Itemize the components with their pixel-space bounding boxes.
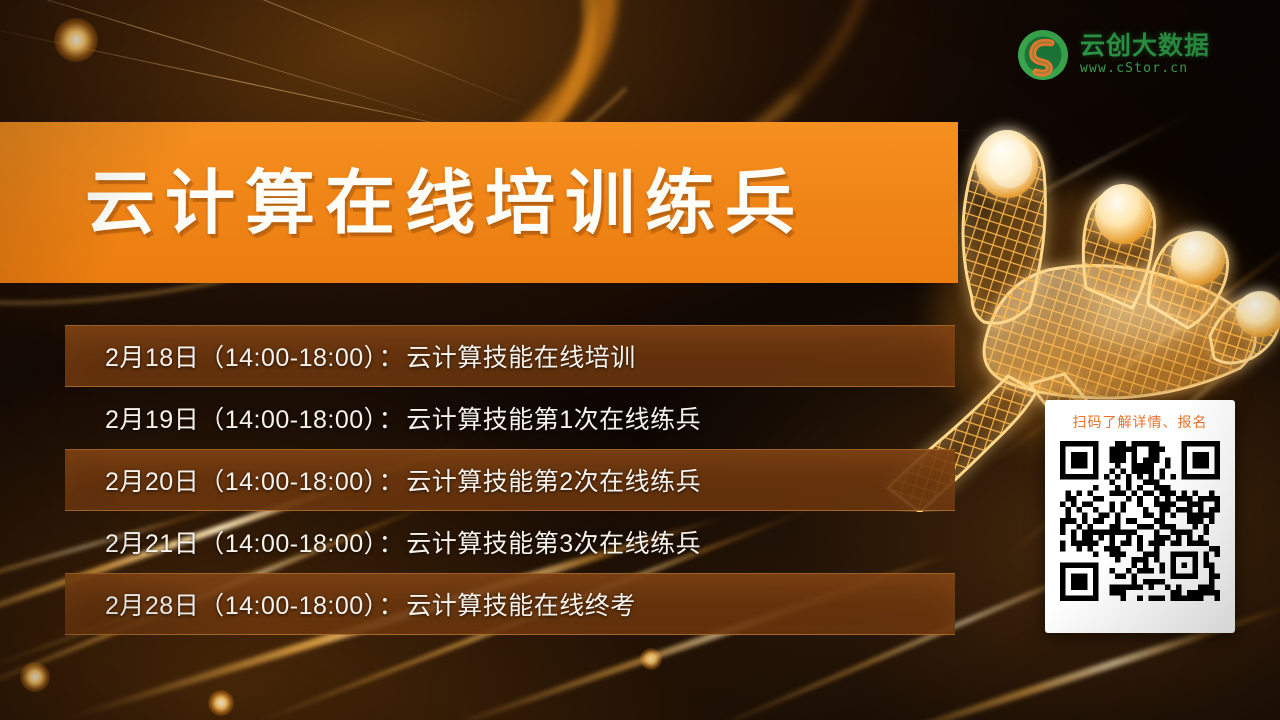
schedule-separator: ： (377, 406, 407, 434)
schedule-time: （14:00-18:00） (199, 468, 376, 496)
qr-code-image[interactable] (1060, 441, 1220, 601)
schedule-separator: ： (377, 530, 407, 558)
qr-card[interactable]: 扫码了解详情、报名 (1045, 400, 1235, 633)
schedule-time: （14:00-18:00） (199, 344, 376, 372)
schedule-row-text: 2月28日（14:00-18:00）：云计算技能在线终考 (105, 586, 636, 622)
page-title: 云计算在线培训练兵 (85, 168, 805, 238)
schedule-date: 2月28日 (105, 592, 199, 620)
schedule-row: 2月21日（14:00-18:00）：云计算技能第3次在线练兵 (65, 511, 955, 573)
schedule-date: 2月18日 (105, 344, 199, 372)
schedule-row-text: 2月19日（14:00-18:00）：云计算技能第1次在线练兵 (105, 400, 701, 436)
schedule-row-text: 2月18日（14:00-18:00）：云计算技能在线培训 (105, 338, 636, 374)
logo-company-name: 云创大数据 (1080, 33, 1210, 59)
schedule-row-text: 2月20日（14:00-18:00）：云计算技能第2次在线练兵 (105, 462, 701, 498)
qr-caption: 扫码了解详情、报名 (1073, 412, 1208, 432)
schedule-event: 云计算技能在线培训 (406, 344, 636, 372)
schedule-time: （14:00-18:00） (199, 530, 376, 558)
schedule-time: （14:00-18:00） (199, 592, 376, 620)
schedule-separator: ： (377, 344, 407, 372)
schedule-list: 2月18日（14:00-18:00）：云计算技能在线培训2月19日（14:00-… (65, 325, 955, 635)
schedule-event: 云计算技能第2次在线练兵 (406, 468, 701, 496)
schedule-row-text: 2月21日（14:00-18:00）：云计算技能第3次在线练兵 (105, 524, 701, 560)
schedule-event: 云计算技能第1次在线练兵 (406, 406, 701, 434)
schedule-time: （14:00-18:00） (199, 406, 376, 434)
schedule-event: 云计算技能在线终考 (406, 592, 636, 620)
schedule-date: 2月19日 (105, 406, 199, 434)
schedule-separator: ： (377, 468, 407, 496)
schedule-row: 2月18日（14:00-18:00）：云计算技能在线培训 (65, 325, 955, 387)
logo-website-url: www.cStor.cn (1080, 61, 1210, 77)
schedule-separator: ： (377, 592, 407, 620)
schedule-date: 2月21日 (105, 530, 199, 558)
schedule-row: 2月20日（14:00-18:00）：云计算技能第2次在线练兵 (65, 449, 955, 511)
cstor-swirl-icon (1016, 28, 1070, 82)
schedule-date: 2月20日 (105, 468, 199, 496)
schedule-row: 2月19日（14:00-18:00）：云计算技能第1次在线练兵 (65, 387, 955, 449)
poster-canvas: 云创大数据 www.cStor.cn 云计算在线培训练兵 2月18日（14:00… (0, 0, 1280, 720)
schedule-event: 云计算技能第3次在线练兵 (406, 530, 701, 558)
brand-logo: 云创大数据 www.cStor.cn (1016, 28, 1210, 82)
title-banner: 云计算在线培训练兵 (0, 122, 958, 283)
schedule-row: 2月28日（14:00-18:00）：云计算技能在线终考 (65, 573, 955, 635)
